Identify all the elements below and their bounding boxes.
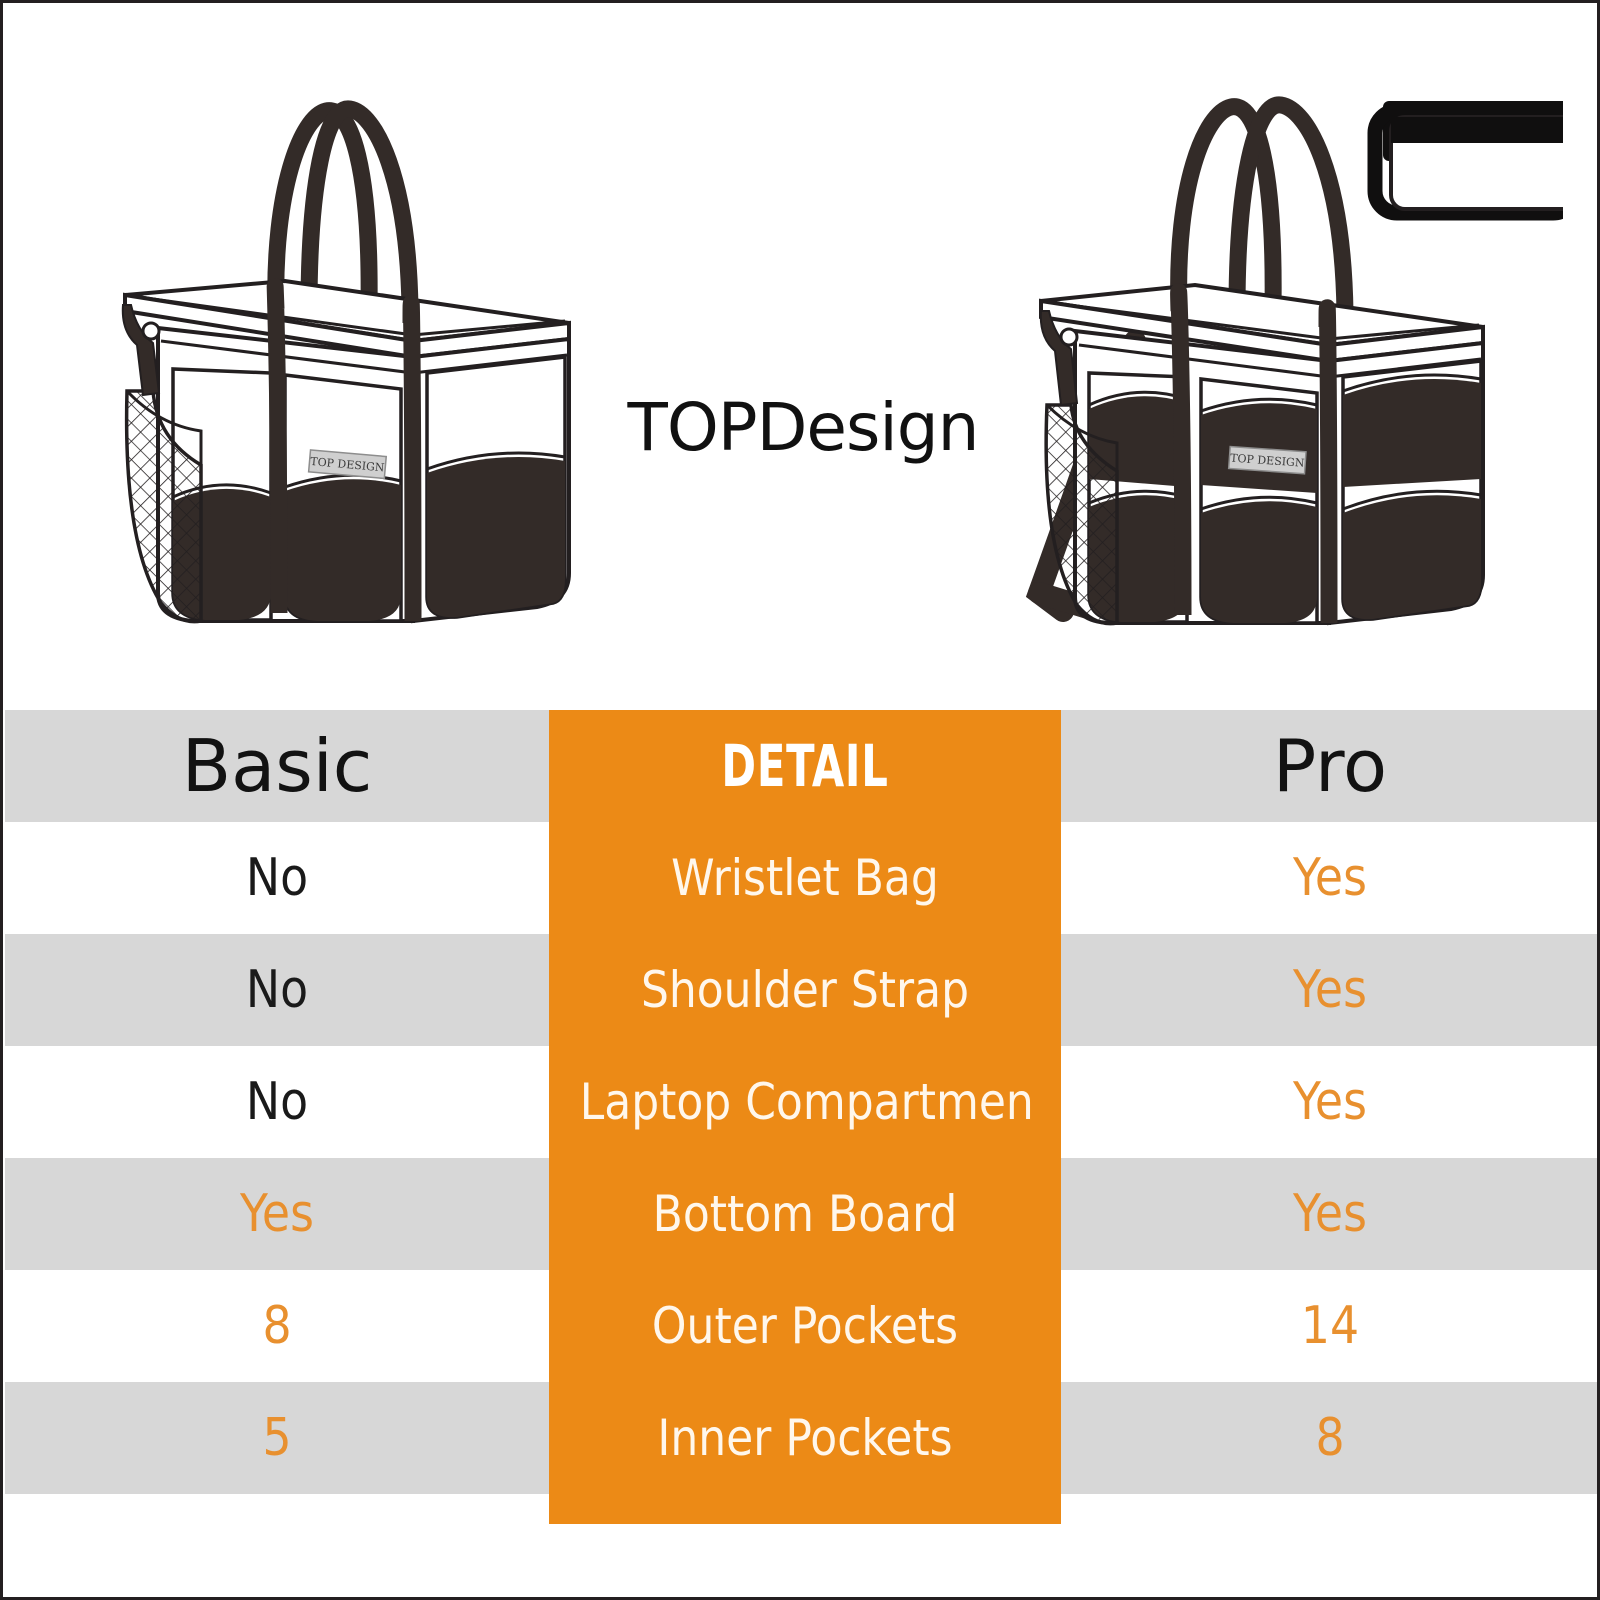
cell-detail-shoulder-strap: Shoulder Strap bbox=[580, 934, 1031, 1046]
pro-tote-bag-illustration: TOP DESIGN bbox=[983, 73, 1563, 633]
cell-detail-inner-pockets: Inner Pockets bbox=[580, 1382, 1031, 1494]
cell-detail-outer-pockets: Outer Pockets bbox=[580, 1270, 1031, 1382]
cell-basic-wristlet-bag: No bbox=[38, 822, 517, 934]
cell-pro-wristlet-bag: Yes bbox=[1093, 822, 1566, 934]
brand-title: TOPDesign bbox=[543, 389, 1063, 466]
table-header-detail: DETAIL bbox=[600, 710, 1010, 822]
cell-pro-laptop-compartment: Yes bbox=[1093, 1046, 1566, 1158]
cell-detail-laptop-compartment: Laptop Compartment bbox=[580, 1046, 1031, 1158]
cell-basic-bottom-board: Yes bbox=[38, 1158, 517, 1270]
hero-illustration-area: TOP DESIGN bbox=[3, 3, 1597, 710]
cell-detail-bottom-board: Bottom Board bbox=[580, 1158, 1031, 1270]
cell-pro-inner-pockets: 8 bbox=[1093, 1382, 1566, 1494]
cell-detail-wristlet-bag: Wristlet Bag bbox=[580, 822, 1031, 934]
table-header-basic: Basic bbox=[5, 710, 549, 822]
comparison-table: Basic DETAIL Pro No Wristlet Bag Yes No … bbox=[5, 710, 1599, 1600]
cell-pro-shoulder-strap: Yes bbox=[1093, 934, 1566, 1046]
cell-pro-bottom-board: Yes bbox=[1093, 1158, 1566, 1270]
table-header-pro: Pro bbox=[1061, 710, 1599, 822]
cell-basic-outer-pockets: 8 bbox=[38, 1270, 517, 1382]
cell-basic-shoulder-strap: No bbox=[38, 934, 517, 1046]
basic-tote-bag-illustration: TOP DESIGN bbox=[113, 73, 583, 633]
cell-basic-laptop-compartment: No bbox=[38, 1046, 517, 1158]
comparison-infographic: TOP DESIGN bbox=[0, 0, 1600, 1600]
wristlet-pouch-illustration bbox=[1375, 101, 1563, 213]
cell-basic-inner-pockets: 5 bbox=[38, 1382, 517, 1494]
cell-pro-outer-pockets: 14 bbox=[1093, 1270, 1566, 1382]
